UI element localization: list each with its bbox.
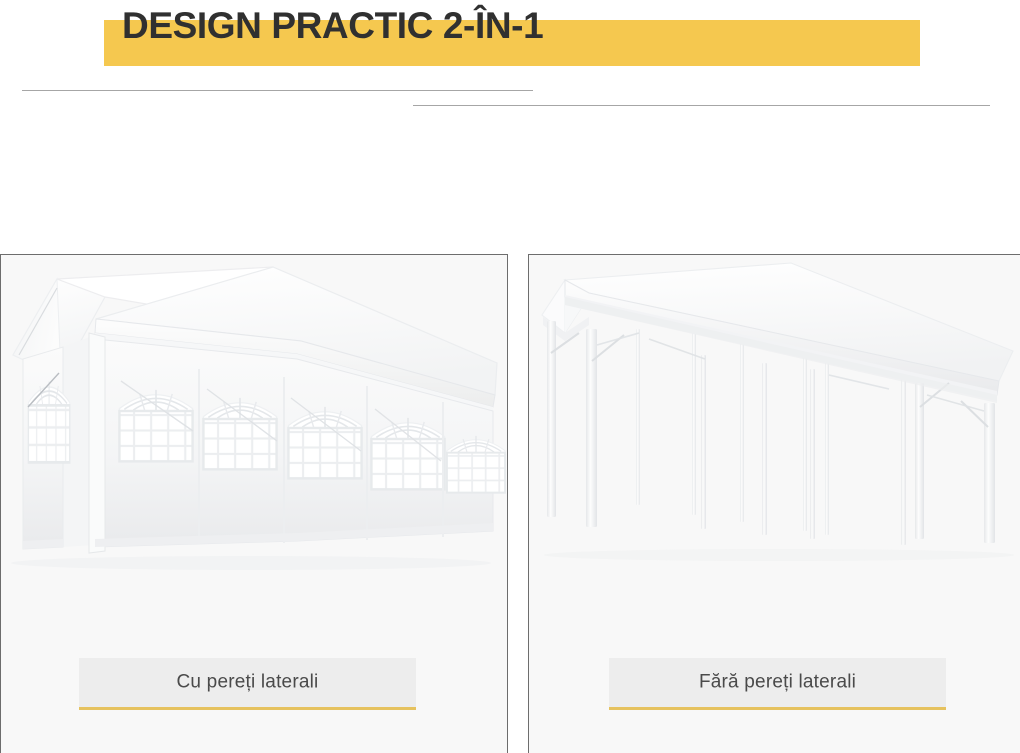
- caption-label-with-walls: Cu pereți laterali: [79, 671, 416, 693]
- page-title: DESIGN PRACTIC 2-ÎN-1: [122, 2, 543, 50]
- caption-label-without-walls: Fără pereți laterali: [609, 671, 946, 693]
- product-card-with-walls[interactable]: Cu pereți laterali: [0, 254, 508, 753]
- product-card-without-walls[interactable]: Fără pereți laterali: [528, 254, 1020, 753]
- divider-line-lower: [413, 105, 990, 106]
- divider-line-upper: [22, 90, 533, 91]
- caption-box-without-walls: Fără pereți laterali: [609, 658, 946, 710]
- caption-box-with-walls: Cu pereți laterali: [79, 658, 416, 710]
- tent-image-without-walls: [529, 255, 1020, 655]
- tent-image-with-walls: [1, 255, 507, 655]
